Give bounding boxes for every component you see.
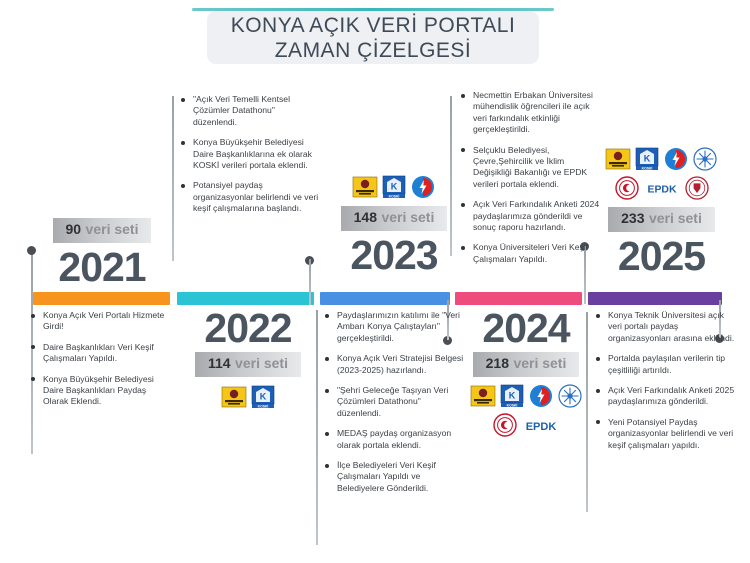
- konya-buyuksehir-logo: [470, 383, 496, 409]
- konya-buyuksehir-logo: [221, 384, 247, 410]
- timeline-column-2025: KKOSKİ EPDK 233 v: [585, 78, 735, 556]
- bullet-list-2024: Necmettin Erbakan Üniversitesi mühendisl…: [460, 90, 602, 274]
- selcuklu-logo: [557, 383, 583, 409]
- timeline-column-2022: "Açık Veri Temelli Kentsel Çözümler Data…: [168, 78, 318, 556]
- list-item: Açık Veri Farkındalık Anketi 2024 paydaş…: [460, 199, 602, 233]
- bullet-list-2021: Konya Açık Veri Portalı Hizmete Girdi! D…: [30, 310, 166, 417]
- list-item: "Şehri Geleceğe Taşıyan Veri Çözümleri D…: [324, 385, 464, 419]
- bullet-list-2025: Konya Teknik Üniversitesi açık veri port…: [595, 310, 735, 460]
- list-item: Necmettin Erbakan Üniversitesi mühendisl…: [460, 90, 602, 136]
- dataset-label-2022: veri seti: [235, 355, 288, 371]
- koski-logo: KKOSKİ: [499, 383, 525, 409]
- svg-text:KOSKİ: KOSKİ: [257, 404, 268, 408]
- svg-text:K: K: [644, 154, 651, 164]
- list-item: Açık Veri Farkındalık Anketi 2025 paydaş…: [595, 385, 735, 408]
- dataset-count-2022: 114: [208, 355, 231, 371]
- list-item: Konya Açık Veri Portalı Hizmete Girdi!: [30, 310, 166, 333]
- konya-buyuksehir-logo: [605, 146, 631, 172]
- dataset-badge-2022: 114 veri seti: [195, 352, 301, 377]
- dataset-badge-2021: 90 veri seti: [53, 218, 152, 243]
- dataset-label-2023: veri seti: [381, 209, 434, 225]
- koski-logo: KKOSKİ: [381, 174, 407, 200]
- dataset-label-2025: veri seti: [649, 210, 702, 226]
- year-label-2025: 2025: [618, 234, 705, 278]
- svg-text:KOSKİ: KOSKİ: [506, 403, 517, 407]
- dataset-count-2025: 233: [621, 210, 644, 226]
- logo-row-2025: KKOSKİ EPDK: [594, 146, 730, 201]
- svg-text:KOSKİ: KOSKİ: [642, 166, 653, 170]
- list-item: İlçe Belediyeleri Veri Keşif Çalışmaları…: [324, 460, 464, 494]
- list-item: Konya Teknik Üniversitesi açık veri port…: [595, 310, 735, 344]
- list-item: Portalda paylaşılan verilerin tip çeşitl…: [595, 353, 735, 376]
- list-item: Konya Açık Veri Stratejisi Belgesi (2023…: [324, 353, 464, 376]
- dataset-count-2021: 90: [66, 221, 82, 237]
- bullet-list-2023: Paydaşlarımızın katılımı ile "Veri Ambar…: [324, 310, 464, 503]
- list-item: "Açık Veri Temelli Kentsel Çözümler Data…: [180, 94, 320, 128]
- dataset-badge-2025: 233 veri seti: [608, 207, 715, 232]
- list-item: Potansiyel paydaş organizasyonlar belirl…: [180, 180, 320, 214]
- dataset-label-2021: veri seti: [86, 221, 139, 237]
- timeline-column-2021: 90 veri seti 2021 Konya Açık Veri Portal…: [18, 78, 168, 556]
- svg-text:K: K: [508, 391, 515, 401]
- timeline-infographic: KONYA AÇIK VERİ PORTALI ZAMAN ÇİZELGESİ …: [0, 0, 750, 563]
- list-item: Konya Üniversiteleri Veri Keşif Çalışmal…: [460, 242, 602, 265]
- list-item: Konya Büyükşehir Belediyesi Daire Başkan…: [180, 137, 320, 171]
- year-label-2023: 2023: [350, 233, 437, 277]
- dataset-count-2024: 218: [486, 355, 509, 371]
- medas-logo: [528, 383, 554, 409]
- timeline-column-2024: Necmettin Erbakan Üniversitesi mühendisl…: [452, 78, 602, 556]
- year-label-2021: 2021: [58, 245, 145, 289]
- bakanlik-logo: [492, 412, 518, 438]
- timeline-column-2023: KKOSKİ 148 veri seti 2023 Paydaşlarımızı…: [318, 78, 468, 556]
- dataset-label-2024: veri seti: [513, 355, 566, 371]
- dataset-badge-2023: 148 veri seti: [341, 206, 448, 231]
- koski-logo: KKOSKİ: [634, 146, 660, 172]
- svg-text:K: K: [391, 182, 398, 192]
- selcuklu-logo: [692, 146, 718, 172]
- bullet-list-2022: "Açık Veri Temelli Kentsel Çözümler Data…: [180, 94, 320, 224]
- logo-row-2024: KKOSKİ EPDK: [465, 383, 587, 438]
- medas-logo: [663, 146, 689, 172]
- svg-text:K: K: [259, 392, 266, 402]
- list-item: Paydaşlarımızın katılımı ile "Veri Ambar…: [324, 310, 464, 344]
- bakanlik-logo: [614, 175, 640, 201]
- year-label-2022: 2022: [204, 306, 291, 350]
- list-item: Yeni Potansiyel Paydaş organizasyonlar b…: [595, 417, 735, 451]
- page-title-line-1: KONYA AÇIK VERİ PORTALI: [231, 13, 516, 38]
- svg-text:EPDK: EPDK: [647, 185, 676, 196]
- epdk-logo: EPDK: [643, 175, 681, 201]
- koski-logo: KKOSKİ: [250, 384, 276, 410]
- year-label-2024: 2024: [482, 306, 569, 350]
- dataset-badge-2024: 218 veri seti: [473, 352, 580, 377]
- list-item: Selçuklu Belediyesi, Çevre,Şehircilik ve…: [460, 145, 602, 191]
- universite-logo: [684, 175, 710, 201]
- epdk-logo: EPDK: [521, 412, 561, 438]
- title-box: KONYA AÇIK VERİ PORTALI ZAMAN ÇİZELGESİ: [207, 11, 539, 64]
- logo-row-2022: KKOSKİ: [188, 384, 308, 410]
- konya-buyuksehir-logo: [352, 174, 378, 200]
- dataset-count-2023: 148: [354, 209, 377, 225]
- medas-logo: [410, 174, 436, 200]
- svg-text:EPDK: EPDK: [525, 421, 556, 433]
- list-item: MEDAŞ paydaş organizasyon olarak portala…: [324, 428, 464, 451]
- logo-row-2023: KKOSKİ: [334, 174, 454, 200]
- list-item: Daire Başkanlıkları Veri Keşif Çalışmala…: [30, 342, 166, 365]
- list-item: Konya Büyükşehir Belediyesi Daire Başkan…: [30, 374, 166, 408]
- page-title-line-2: ZAMAN ÇİZELGESİ: [275, 38, 472, 63]
- svg-text:KOSKİ: KOSKİ: [389, 194, 400, 198]
